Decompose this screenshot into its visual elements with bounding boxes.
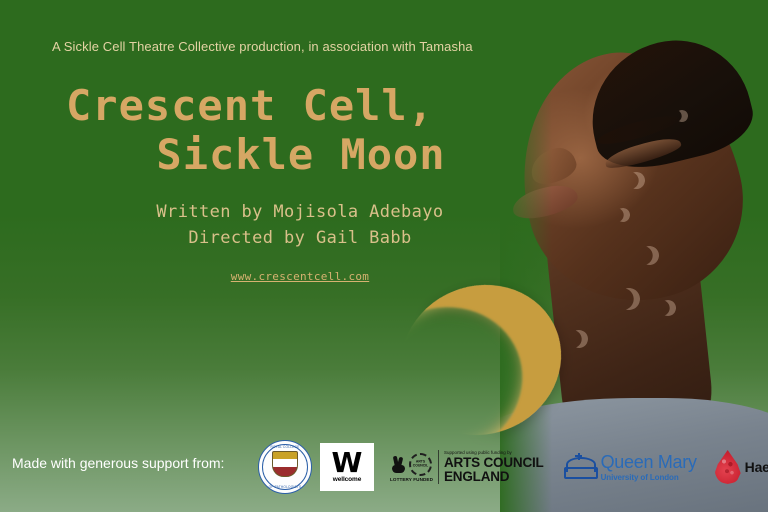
portrait-photo [500, 0, 768, 512]
haematology-logo: Haem [715, 450, 768, 484]
page-title: Crescent Cell, Sickle Moon [66, 82, 536, 179]
title-line-2: Sickle Moon [66, 131, 536, 180]
title-line-1: Crescent Cell, [66, 81, 434, 130]
poster-canvas: A Sickle Cell Theatre Collective product… [0, 0, 768, 512]
crown-icon [562, 453, 596, 481]
credits-block: Written by Mojisola Adebayo Directed by … [60, 200, 540, 251]
arts-council-wordmark: Supported using public funding by ARTS C… [444, 450, 544, 484]
website-link[interactable]: www.crescentcell.com [60, 270, 540, 283]
crest-coat-of-arms-icon [272, 451, 298, 477]
crest-top-text: ROYAL COLLEGE [259, 445, 311, 449]
writer-credit: Written by Mojisola Adebayo [60, 200, 540, 226]
lottery-funded-label: LOTTERY FUNDED [390, 477, 433, 482]
wellcome-w-icon: W [332, 451, 363, 475]
wellcome-wordmark: wellcome [333, 476, 361, 483]
queen-mary-subtitle: University of London [601, 473, 697, 482]
crossed-fingers-palm [392, 465, 405, 473]
arts-council-line-2: ENGLAND [444, 470, 544, 484]
wellcome-logo: W wellcome [320, 443, 374, 491]
support-label: Made with generous support from: [12, 455, 224, 471]
queen-mary-name: Queen Mary [601, 453, 697, 471]
lottery-icons: ARTS COUNCIL [391, 453, 432, 476]
arts-council-roundel-text: ARTS COUNCIL [412, 460, 430, 467]
crest-bottom-text: OF PATHOLOGISTS [259, 485, 311, 489]
arts-council-roundel-icon: ARTS COUNCIL [409, 453, 432, 476]
queen-mary-wordmark: Queen Mary University of London [601, 453, 697, 482]
photo-edge-fade [500, 0, 552, 512]
arts-council-england-logo: ARTS COUNCIL LOTTERY FUNDED Supported us… [390, 450, 544, 484]
production-tagline: A Sickle Cell Theatre Collective product… [52, 39, 473, 54]
queen-mary-logo: Queen Mary University of London [562, 453, 697, 482]
director-credit: Directed by Gail Babb [60, 226, 540, 252]
crown-band [564, 467, 598, 479]
lottery-funded-block: ARTS COUNCIL LOTTERY FUNDED [390, 453, 433, 482]
blood-drop-icon [715, 450, 741, 484]
haematology-wordmark: Haem [745, 459, 768, 475]
royal-college-crest-logo: ROYAL COLLEGE OF PATHOLOGISTS [258, 440, 312, 494]
logo-divider [438, 450, 439, 484]
arts-council-line-1: ARTS COUNCIL [444, 456, 544, 470]
funder-logo-row: ROYAL COLLEGE OF PATHOLOGISTS W wellcome… [258, 440, 768, 494]
crossed-fingers-icon [391, 456, 406, 473]
